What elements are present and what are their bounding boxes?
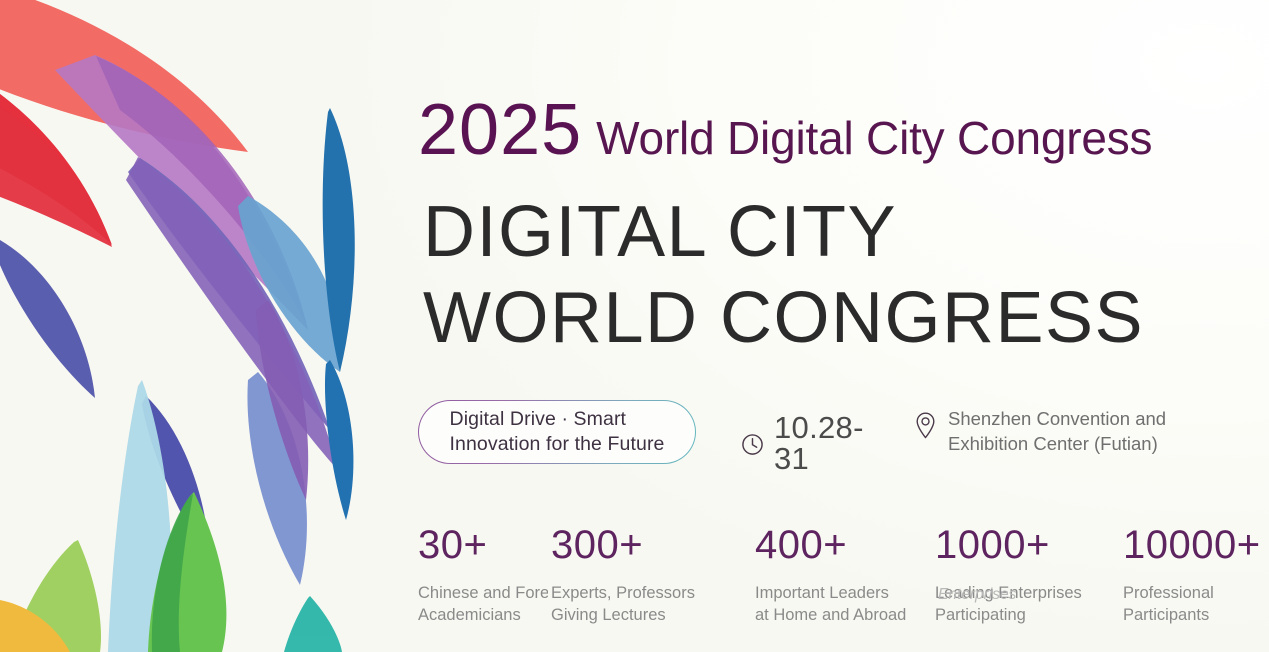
stat-number: 300+ [551,525,691,565]
stats-row: 30+ Chinese and Foreign Academicians 300… [418,525,1269,645]
clock-icon [740,432,765,457]
venue-line-1: Shenzhen Convention and [948,408,1166,429]
tagline-pill: Digital Drive · Smart Innovation for the… [418,400,696,464]
stat-label: Leading Enterprises Participating [935,582,1075,626]
event-date: 10.28-31 [740,412,864,474]
stat-label: Chinese and Foreign Academicians [418,582,548,626]
petal-fan-logo [0,0,400,652]
petal-deepblue [325,360,353,520]
event-venue: Shenzhen Convention and Exhibition Cente… [913,406,1166,456]
congress-name-label: World Digital City Congress [596,112,1152,164]
stat-label-line-1: Chinese and Foreign [418,582,548,604]
stat-number: 30+ [418,525,558,565]
stat-item: 30+ Chinese and Foreign Academicians [418,525,558,626]
petal-indigo-small [0,240,95,398]
stat-label-line-2: Participants [1123,604,1263,626]
stat-label-line-2: Giving Lectures [551,604,691,626]
petal-teal [284,596,342,652]
location-pin-icon [913,411,938,441]
stat-item: 400+ Important Leaders at Home and Abroa… [755,525,895,626]
page-title-line-2: WORLD CONGRESS [423,282,1144,354]
stat-number: 10000+ [1123,525,1263,565]
stat-label-line-1: Professional [1123,582,1263,604]
headline-primary: 2025World Digital City Congress [418,94,1152,166]
event-venue-text: Shenzhen Convention and Exhibition Cente… [948,406,1166,456]
venue-line-2: Exhibition Center (Futian) [948,433,1158,454]
stat-item: 1000+ Leading Enterprises Participating [935,525,1075,626]
stat-label-line-2: Academicians [418,606,521,624]
page-title-line-1: DIGITAL CITY [423,196,897,268]
tagline-text: Digital Drive · Smart Innovation for the… [450,407,665,457]
stat-label-line-1: Experts, Professors [551,582,691,604]
stat-label-line-1-text: Leading Enterprises [935,584,1082,602]
event-date-text: 10.28-31 [774,412,864,474]
stat-item: 10000+ Professional Participants [1123,525,1263,626]
tagline-line-2: Innovation for the Future [450,432,665,457]
congress-banner: 2025World Digital City Congress DIGITAL … [0,0,1269,652]
stat-label: Important Leaders at Home and Abroad [755,582,895,626]
stat-label-line-2: at Home and Abroad [755,604,895,626]
stat-number: 1000+ [935,525,1075,565]
tagline-line-1: Digital Drive · Smart [450,407,665,432]
stat-label-line-2: Participating [935,604,1075,626]
stat-label-line-1: Important Leaders [755,582,895,604]
banner-content: 2025World Digital City Congress DIGITAL … [418,0,1269,652]
stat-label-line-1: Leading Enterprises [935,582,1075,604]
stat-label: Professional Participants [1123,582,1263,626]
stat-number: 400+ [755,525,895,565]
year-label: 2025 [418,90,582,170]
stat-item: 300+ Experts, Professors Giving Lectures [551,525,691,626]
stat-label: Experts, Professors Giving Lectures [551,582,691,626]
